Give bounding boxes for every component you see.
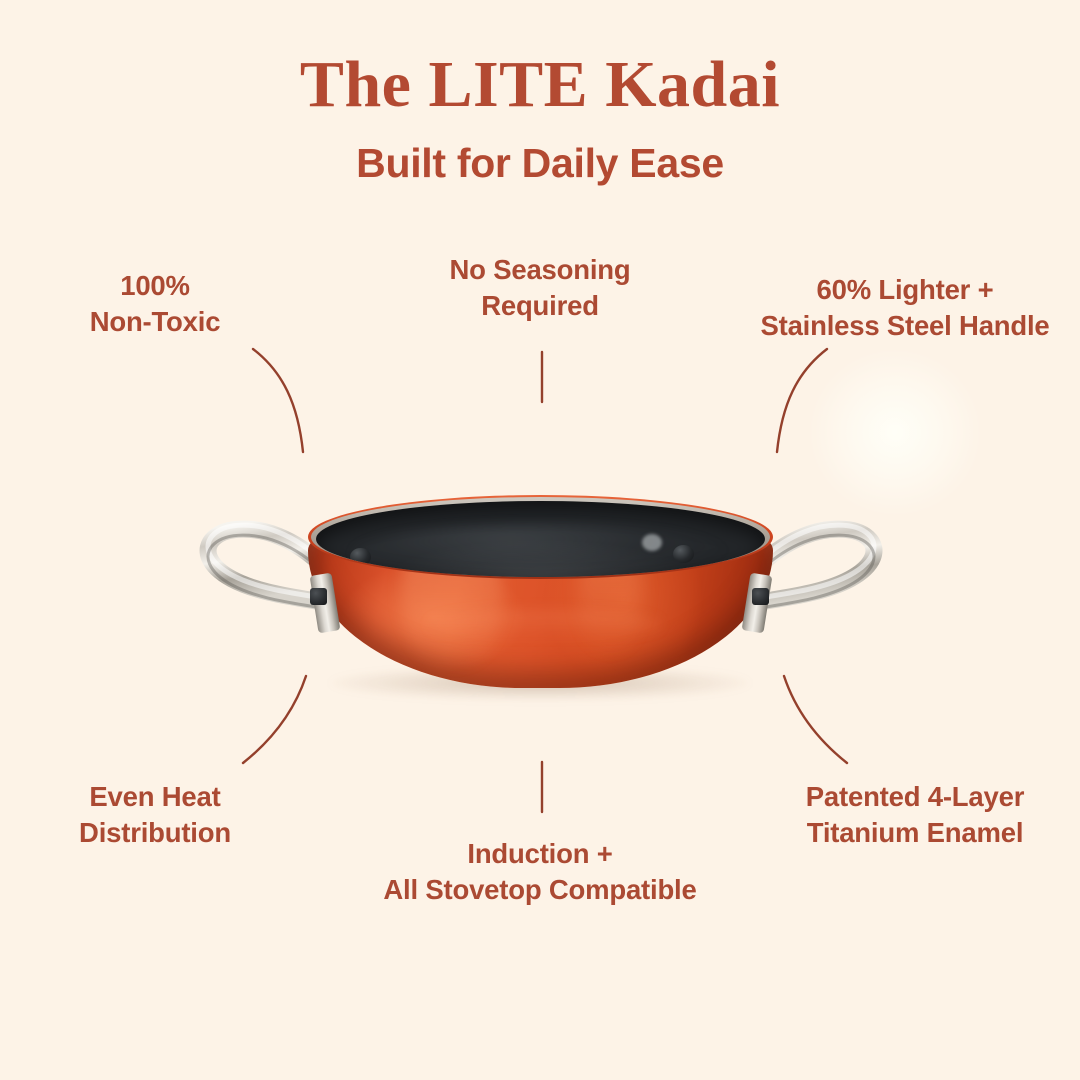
feature-line-2: Non-Toxic [30, 304, 280, 340]
feature-label-non-toxic: 100% Non-Toxic [30, 268, 280, 340]
handle-screw-right [752, 588, 769, 605]
pan-interior [316, 501, 765, 577]
feature-line-1: 100% [30, 268, 280, 304]
feature-line-2: Required [415, 288, 665, 324]
feature-line-1: Patented 4-Layer [765, 779, 1065, 815]
pan-base-highlight [429, 610, 662, 640]
page-subtitle: Built for Daily Ease [0, 140, 1080, 187]
feature-line-1: No Seasoning [415, 252, 665, 288]
pan-interior-rivet-right [673, 545, 694, 563]
feature-line-2: Distribution [30, 815, 280, 851]
connector-lighter-handle [777, 349, 827, 452]
feature-label-no-seasoning: No Seasoning Required [415, 252, 665, 324]
pan-interior-reflection [642, 534, 662, 551]
feature-label-lighter-handle: 60% Lighter + Stainless Steel Handle [740, 272, 1070, 344]
kadai-pan-image [200, 470, 880, 715]
infographic-canvas: The LITE Kadai Built for Daily Ease 100%… [0, 0, 1080, 1080]
feature-line-1: 60% Lighter + [740, 272, 1070, 308]
feature-line-2: Titanium Enamel [765, 815, 1065, 851]
page-title: The LITE Kadai [0, 52, 1080, 118]
feature-line-1: Even Heat [30, 779, 280, 815]
connector-non-toxic [253, 349, 303, 452]
feature-line-2: All Stovetop Compatible [355, 872, 725, 908]
feature-label-patented-enamel: Patented 4-Layer Titanium Enamel [765, 779, 1065, 851]
pan-interior-rivet-left [350, 548, 371, 566]
handle-screw-left [310, 588, 327, 605]
feature-line-1: Induction + [355, 836, 725, 872]
feature-label-even-heat: Even Heat Distribution [30, 779, 280, 851]
feature-label-induction: Induction + All Stovetop Compatible [355, 836, 725, 908]
feature-line-2: Stainless Steel Handle [740, 308, 1070, 344]
